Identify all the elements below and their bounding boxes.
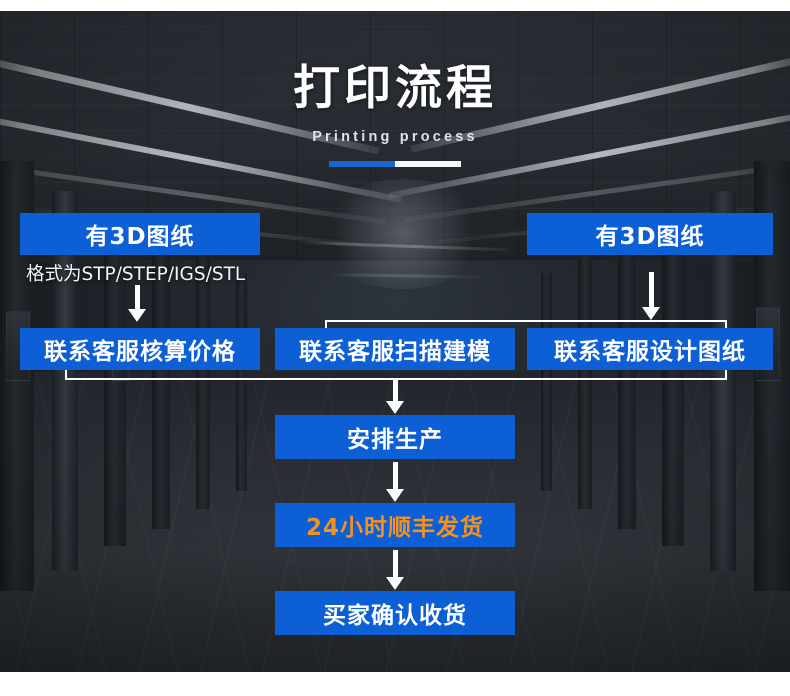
flow-node-label: 联系客服扫描建模 [299, 332, 491, 366]
flow-node-label: 有3D图纸 [85, 217, 194, 251]
process-flow-diagram: 有3D图纸 有3D图纸 格式为STP/STEP/IGS/STL 联系客服核算价格… [0, 0, 790, 696]
flow-node-production[interactable]: 安排生产 [275, 415, 515, 459]
flow-node-label: 联系客服设计图纸 [554, 332, 746, 366]
flow-node-label: 安排生产 [347, 420, 443, 454]
arrow-stem [649, 272, 654, 308]
flow-node-quote[interactable]: 联系客服核算价格 [20, 328, 260, 370]
top-white-strip [0, 0, 790, 11]
flow-node-label: 24小时顺丰发货 [306, 508, 484, 542]
arrow-down-left-column [122, 285, 152, 322]
flow-node-label: 联系客服核算价格 [44, 332, 236, 366]
flow-node-design-drawing[interactable]: 联系客服设计图纸 [527, 328, 773, 370]
arrow-stem [393, 550, 398, 578]
format-note-caption: 格式为STP/STEP/IGS/STL [26, 260, 245, 286]
printing-process-infographic: 打印流程 Printing process 有3D图纸 有3D图纸 格式为STP… [0, 0, 790, 696]
flow-node-scan-model[interactable]: 联系客服扫描建模 [275, 328, 515, 370]
flow-node-label: 有3D图纸 [595, 217, 704, 251]
arrow-head-icon [642, 307, 660, 320]
arrow-head-icon [386, 401, 404, 414]
arrow-down-to-production [380, 378, 410, 414]
arrow-stem [393, 378, 398, 402]
arrow-stem [135, 285, 140, 310]
arrow-head-icon [386, 489, 404, 502]
flow-node-shipping[interactable]: 24小时顺丰发货 [275, 503, 515, 547]
arrow-down-to-confirm-receipt [380, 550, 410, 590]
arrow-down-right-column [636, 272, 666, 320]
flow-node-has-drawing-left[interactable]: 有3D图纸 [20, 213, 260, 255]
arrow-stem [393, 462, 398, 490]
arrow-down-to-shipping [380, 462, 410, 502]
flow-node-confirm-receipt[interactable]: 买家确认收货 [275, 591, 515, 635]
arrow-head-icon [386, 577, 404, 590]
bottom-white-strip [0, 672, 790, 696]
flow-node-label: 买家确认收货 [323, 596, 467, 630]
arrow-head-icon [128, 309, 146, 322]
flow-node-has-drawing-right[interactable]: 有3D图纸 [527, 213, 773, 255]
connector-top-bracket-horizontal [325, 320, 727, 322]
